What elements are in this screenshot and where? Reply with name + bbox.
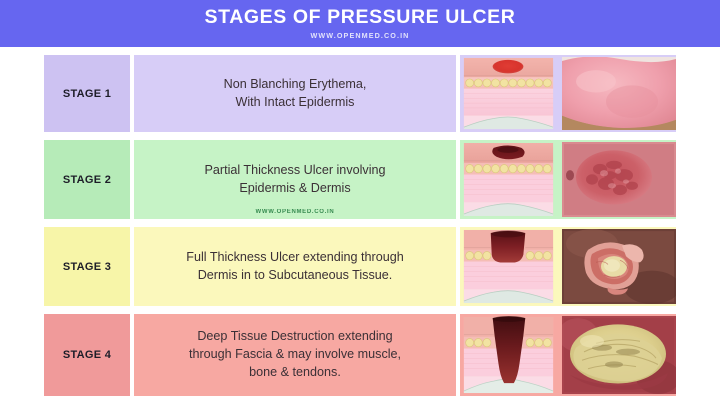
clinical-photo-image — [562, 57, 676, 130]
table-row: STAGE 4 Deep Tissue Destruction extendin… — [44, 314, 676, 396]
table-row: STAGE 1 Non Blanching Erythema, With Int… — [44, 55, 676, 132]
stage-label: STAGE 3 — [63, 261, 111, 273]
header-banner: STAGES OF PRESSURE ULCER WWW.OPENMED.CO.… — [0, 0, 720, 47]
stage-label-cell: STAGE 3 — [44, 227, 130, 306]
stage-description: Non Blanching Erythema, With Intact Epid… — [224, 76, 367, 112]
table-row: STAGE 2 Partial Thickness Ulcer involvin… — [44, 140, 676, 219]
stage-label: STAGE 4 — [63, 349, 111, 361]
watermark-text: WWW.OPENMED.CO.IN — [134, 209, 456, 215]
clinical-photo-frame — [562, 316, 676, 394]
stage-label-cell: STAGE 4 — [44, 314, 130, 396]
stage-description: Full Thickness Ulcer extending through D… — [186, 249, 403, 285]
stage-label-cell: STAGE 1 — [44, 55, 130, 132]
clinical-photo-stage-2 — [557, 140, 676, 219]
clinical-photo-stage-4 — [557, 314, 676, 396]
clinical-photo-image — [562, 316, 676, 394]
skin-cross-section-icon — [462, 57, 555, 130]
stage-label-cell: STAGE 2 — [44, 140, 130, 219]
header-website-credit: WWW.OPENMED.CO.IN — [311, 31, 410, 40]
skin-cross-section-stage-4 — [460, 314, 557, 396]
skin-cross-section-stage-3 — [460, 227, 557, 306]
clinical-photo-stage-3 — [557, 227, 676, 306]
table-row: STAGE 3 Full Thickness Ulcer extending t… — [44, 227, 676, 306]
pressure-ulcer-infographic: STAGES OF PRESSURE ULCER WWW.OPENMED.CO.… — [0, 0, 720, 404]
stage-label: STAGE 1 — [63, 88, 111, 100]
clinical-photo-frame — [562, 57, 676, 130]
stage-description-cell: Partial Thickness Ulcer involving Epider… — [134, 140, 456, 219]
stage-description-cell: Full Thickness Ulcer extending through D… — [134, 227, 456, 306]
skin-cross-section-stage-1 — [460, 55, 557, 132]
skin-cross-section-icon — [462, 316, 555, 394]
skin-cross-section-icon — [462, 142, 555, 217]
clinical-photo-stage-1 — [557, 55, 676, 132]
stage-description: Deep Tissue Destruction extending throug… — [189, 328, 401, 382]
clinical-photo-frame — [562, 142, 676, 217]
stages-table: STAGE 1 Non Blanching Erythema, With Int… — [0, 47, 720, 404]
clinical-photo-image — [562, 229, 676, 304]
skin-cross-section-icon — [462, 229, 555, 304]
page-title: STAGES OF PRESSURE ULCER — [205, 7, 516, 27]
stage-description-cell: Non Blanching Erythema, With Intact Epid… — [134, 55, 456, 132]
clinical-photo-image — [562, 142, 676, 217]
stage-label: STAGE 2 — [63, 174, 111, 186]
skin-cross-section-stage-2 — [460, 140, 557, 219]
clinical-photo-frame — [562, 229, 676, 304]
stage-description-cell: Deep Tissue Destruction extending throug… — [134, 314, 456, 396]
stage-description: Partial Thickness Ulcer involving Epider… — [204, 162, 385, 198]
